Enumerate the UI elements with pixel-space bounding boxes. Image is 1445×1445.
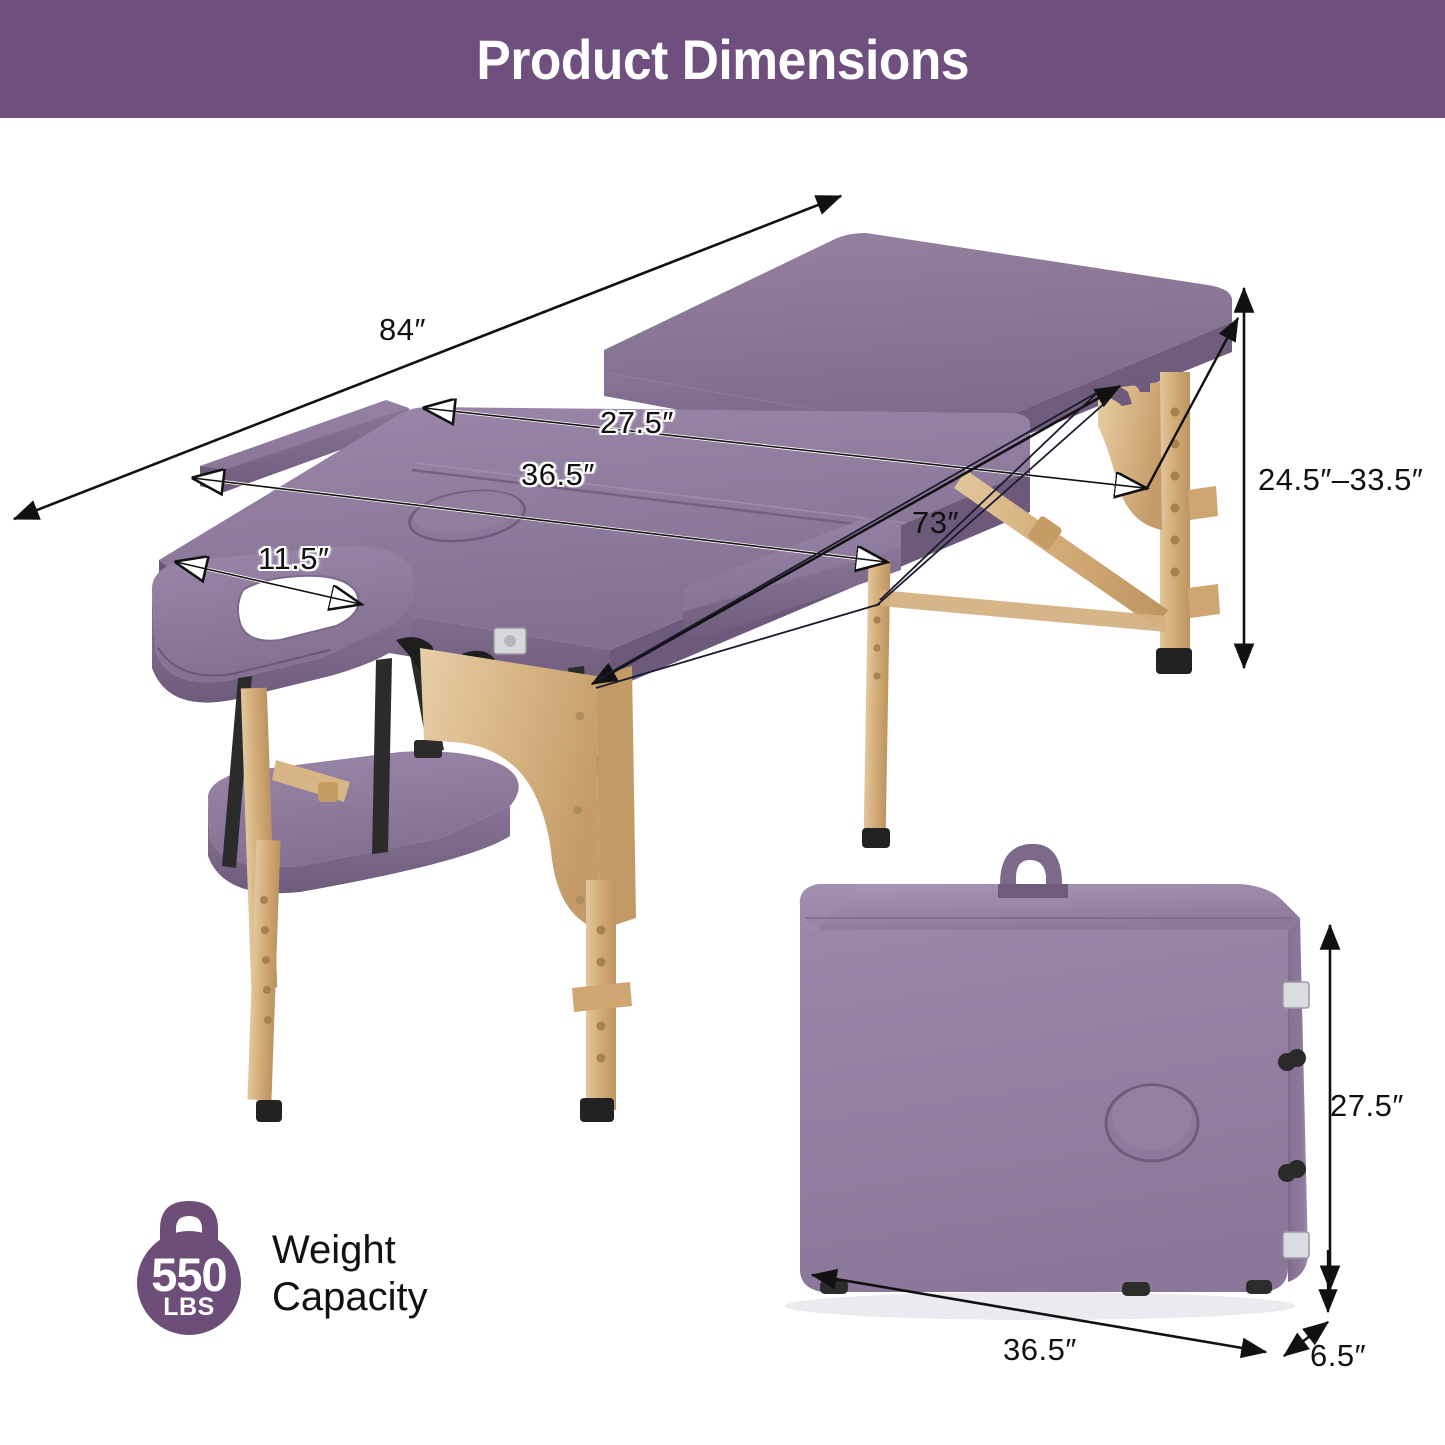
weight-capacity-label: Weight Capacity [272,1227,428,1321]
case-latches [1283,982,1309,1258]
case-face-hole [1106,1085,1198,1161]
dimension-label-adjustable-height: 24.5″–33.5″ [1258,462,1423,498]
dimension-label-folded-width: 36.5″ [1003,1332,1077,1368]
page-title: Product Dimensions [476,27,969,92]
cross-brace [880,470,1168,632]
leg-left-rear [572,880,632,1122]
carry-handle [998,844,1068,898]
arm-shelf [208,751,519,893]
open-table-graphic [152,233,1232,1122]
weight-capacity-label-line2: Capacity [272,1274,428,1321]
case-feet [820,1280,1272,1296]
face-cradle-bracket [396,637,500,694]
metal-latch-fitting [494,628,526,654]
dimension-lines-open-table [14,196,1244,688]
weight-capacity-unit: LBS [125,1293,253,1322]
weight-capacity-badge: 550 LBS Weight Capacity [120,1185,500,1345]
folded-case-graphic [785,844,1309,1320]
dimension-label-top-width: 27.5″ [600,405,674,441]
head-extension-pad [200,400,409,492]
wood-end-panel-right [1098,382,1162,530]
weight-capacity-label-line1: Weight [272,1227,428,1274]
dimension-label-table-body-length: 73″ [912,505,959,541]
dimension-label-overall-length: 84″ [379,312,426,348]
support-straps [222,644,602,868]
dimension-label-width-with-armrests: 36.5″ [521,457,595,493]
product-dimensions-infographic: Product Dimensions [0,0,1445,1445]
face-hole-plug [406,484,528,548]
leg-left-front [241,688,350,1122]
table-top-far-section [604,233,1232,462]
case-grommets [1278,1049,1306,1182]
right-armrest-pad [683,518,901,640]
leg-right-near [862,560,890,848]
header-banner: Product Dimensions [0,0,1445,118]
dimension-lines-folded-case [812,925,1330,1356]
dimension-label-face-cradle-width: 11.5″ [258,541,330,577]
dimension-label-folded-depth: 6.5″ [1310,1338,1366,1374]
wood-end-panel [420,648,636,930]
carry-handle-loops [1082,374,1150,406]
leg-right-far [1156,372,1220,674]
dimension-label-folded-height: 27.5″ [1330,1088,1404,1124]
